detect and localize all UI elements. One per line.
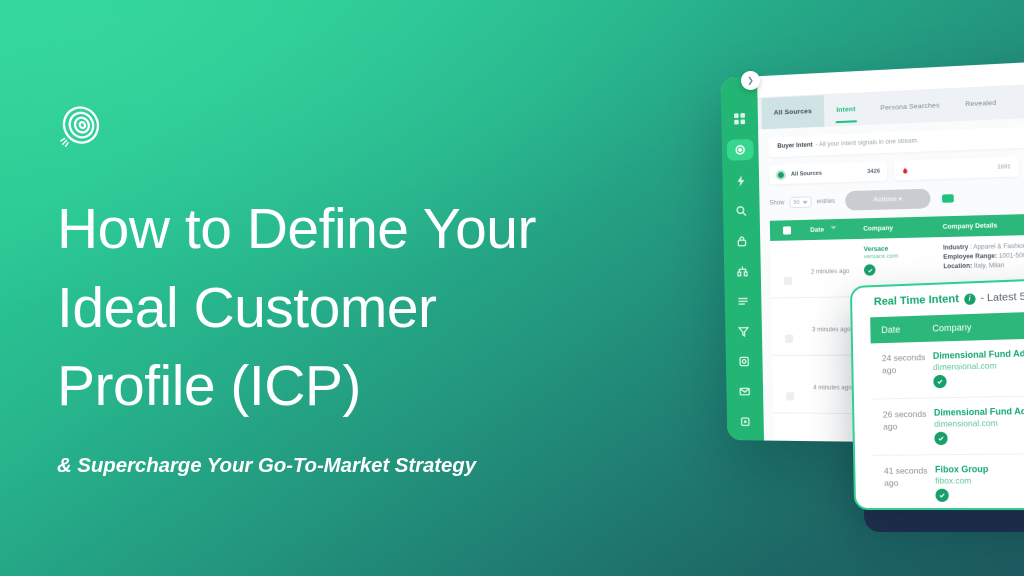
flame-icon — [902, 166, 909, 175]
entries-select[interactable]: 50 — [789, 196, 811, 208]
page-title: How to Define Your Ideal Customer Profil… — [57, 190, 657, 426]
tab-revealed[interactable]: Revealed — [952, 86, 1010, 121]
overlay-row[interactable]: 26 seconds ago Dimensional Fund Advisors… — [872, 395, 1024, 455]
overlay-title-text: Real Time Intent — [874, 293, 959, 308]
verified-badge-icon — [935, 489, 948, 502]
column-date[interactable]: Date — [804, 225, 857, 233]
entries-value: 50 — [793, 199, 799, 205]
stat-label: All Sources — [791, 170, 822, 177]
list-icon[interactable] — [732, 292, 753, 311]
row-checkbox — [785, 334, 793, 342]
show-label: Show — [769, 200, 784, 206]
row-checkbox — [786, 392, 794, 400]
overlay-title-suffix: - Latest 50 — [980, 290, 1024, 304]
search-icon[interactable] — [731, 201, 752, 221]
mail-icon[interactable] — [734, 382, 755, 401]
row-checkbox — [784, 276, 792, 284]
slide-background: How to Define Your Ideal Customer Profil… — [0, 0, 1024, 576]
entries-label: entries — [817, 198, 835, 205]
grid-icon[interactable] — [729, 109, 750, 129]
source-dot-icon — [776, 169, 786, 179]
filter-icon[interactable] — [733, 322, 754, 341]
overlay-row-date: 41 seconds ago — [873, 464, 936, 502]
overlay-row-company: Dimensional Fund Advisors dimensional.co… — [934, 405, 1024, 445]
tab-all-sources[interactable]: All Sources — [761, 95, 824, 129]
actions-button[interactable]: Actions ▾ — [845, 189, 931, 211]
notice-title: Buyer Intent — [777, 142, 812, 149]
network-icon[interactable] — [732, 261, 753, 280]
sort-caret-icon — [830, 226, 836, 232]
overlay-row-company: Fibox Group fibox.com — [935, 464, 989, 502]
tab-persona-searches[interactable]: Persona Searches — [868, 89, 953, 125]
page-subtitle: & Supercharge Your Go-To-Market Strategy — [57, 454, 657, 478]
table-controls: Show 50 entries Actions ▾ — [769, 182, 1024, 213]
spiral-onion-logo — [57, 104, 103, 150]
square-icon[interactable] — [735, 412, 756, 431]
box-icon[interactable] — [734, 352, 755, 371]
overlay-row[interactable]: 24 seconds ago Dimensional Fund Advisors… — [871, 337, 1024, 400]
verified-badge-icon — [934, 432, 947, 445]
real-time-intent-card: Real Time Intent i - Latest 50 Date Comp… — [850, 276, 1024, 510]
column-company[interactable]: Company — [857, 223, 936, 232]
row-date: 2 minutes ago — [804, 246, 858, 297]
overlay-row-date: 26 seconds ago — [872, 408, 935, 446]
chevron-down-icon — [803, 200, 808, 204]
target-icon[interactable] — [727, 139, 754, 161]
info-icon[interactable]: i — [964, 293, 975, 305]
stat-value: 1691 — [997, 164, 1011, 171]
overlay-column-company: Company — [932, 322, 971, 333]
column-company-details[interactable]: Company Details — [936, 218, 1024, 231]
verified-badge-icon — [933, 375, 946, 388]
stat-all-sources[interactable]: All Sources 3426 — [769, 161, 888, 184]
overlay-column-date: Date — [870, 323, 932, 335]
overlay-row-date: 24 seconds ago — [871, 351, 934, 390]
hero-content: How to Define Your Ideal Customer Profil… — [57, 104, 657, 478]
stat-value: 3426 — [867, 168, 880, 175]
video-icon[interactable] — [942, 194, 954, 203]
overlay-row[interactable]: 41 seconds ago Fibox Group fibox.com — [873, 454, 1024, 510]
overlay-row-company: Dimensional Fund Advisors dimensional.co… — [933, 347, 1024, 388]
chevron-right-icon[interactable]: ❯ — [741, 71, 760, 90]
select-all-checkbox[interactable] — [770, 226, 804, 235]
verified-badge-icon — [864, 264, 876, 275]
stat-intent-single[interactable]: 1691 — [894, 156, 1018, 180]
lightning-icon[interactable] — [730, 171, 751, 191]
notice-text: - All your intent signals in one stream. — [816, 138, 919, 148]
tab-intent[interactable]: Intent — [824, 93, 869, 127]
stats-row: All Sources 3426 1691 496 — [769, 152, 1024, 185]
lock-icon[interactable] — [731, 231, 752, 251]
